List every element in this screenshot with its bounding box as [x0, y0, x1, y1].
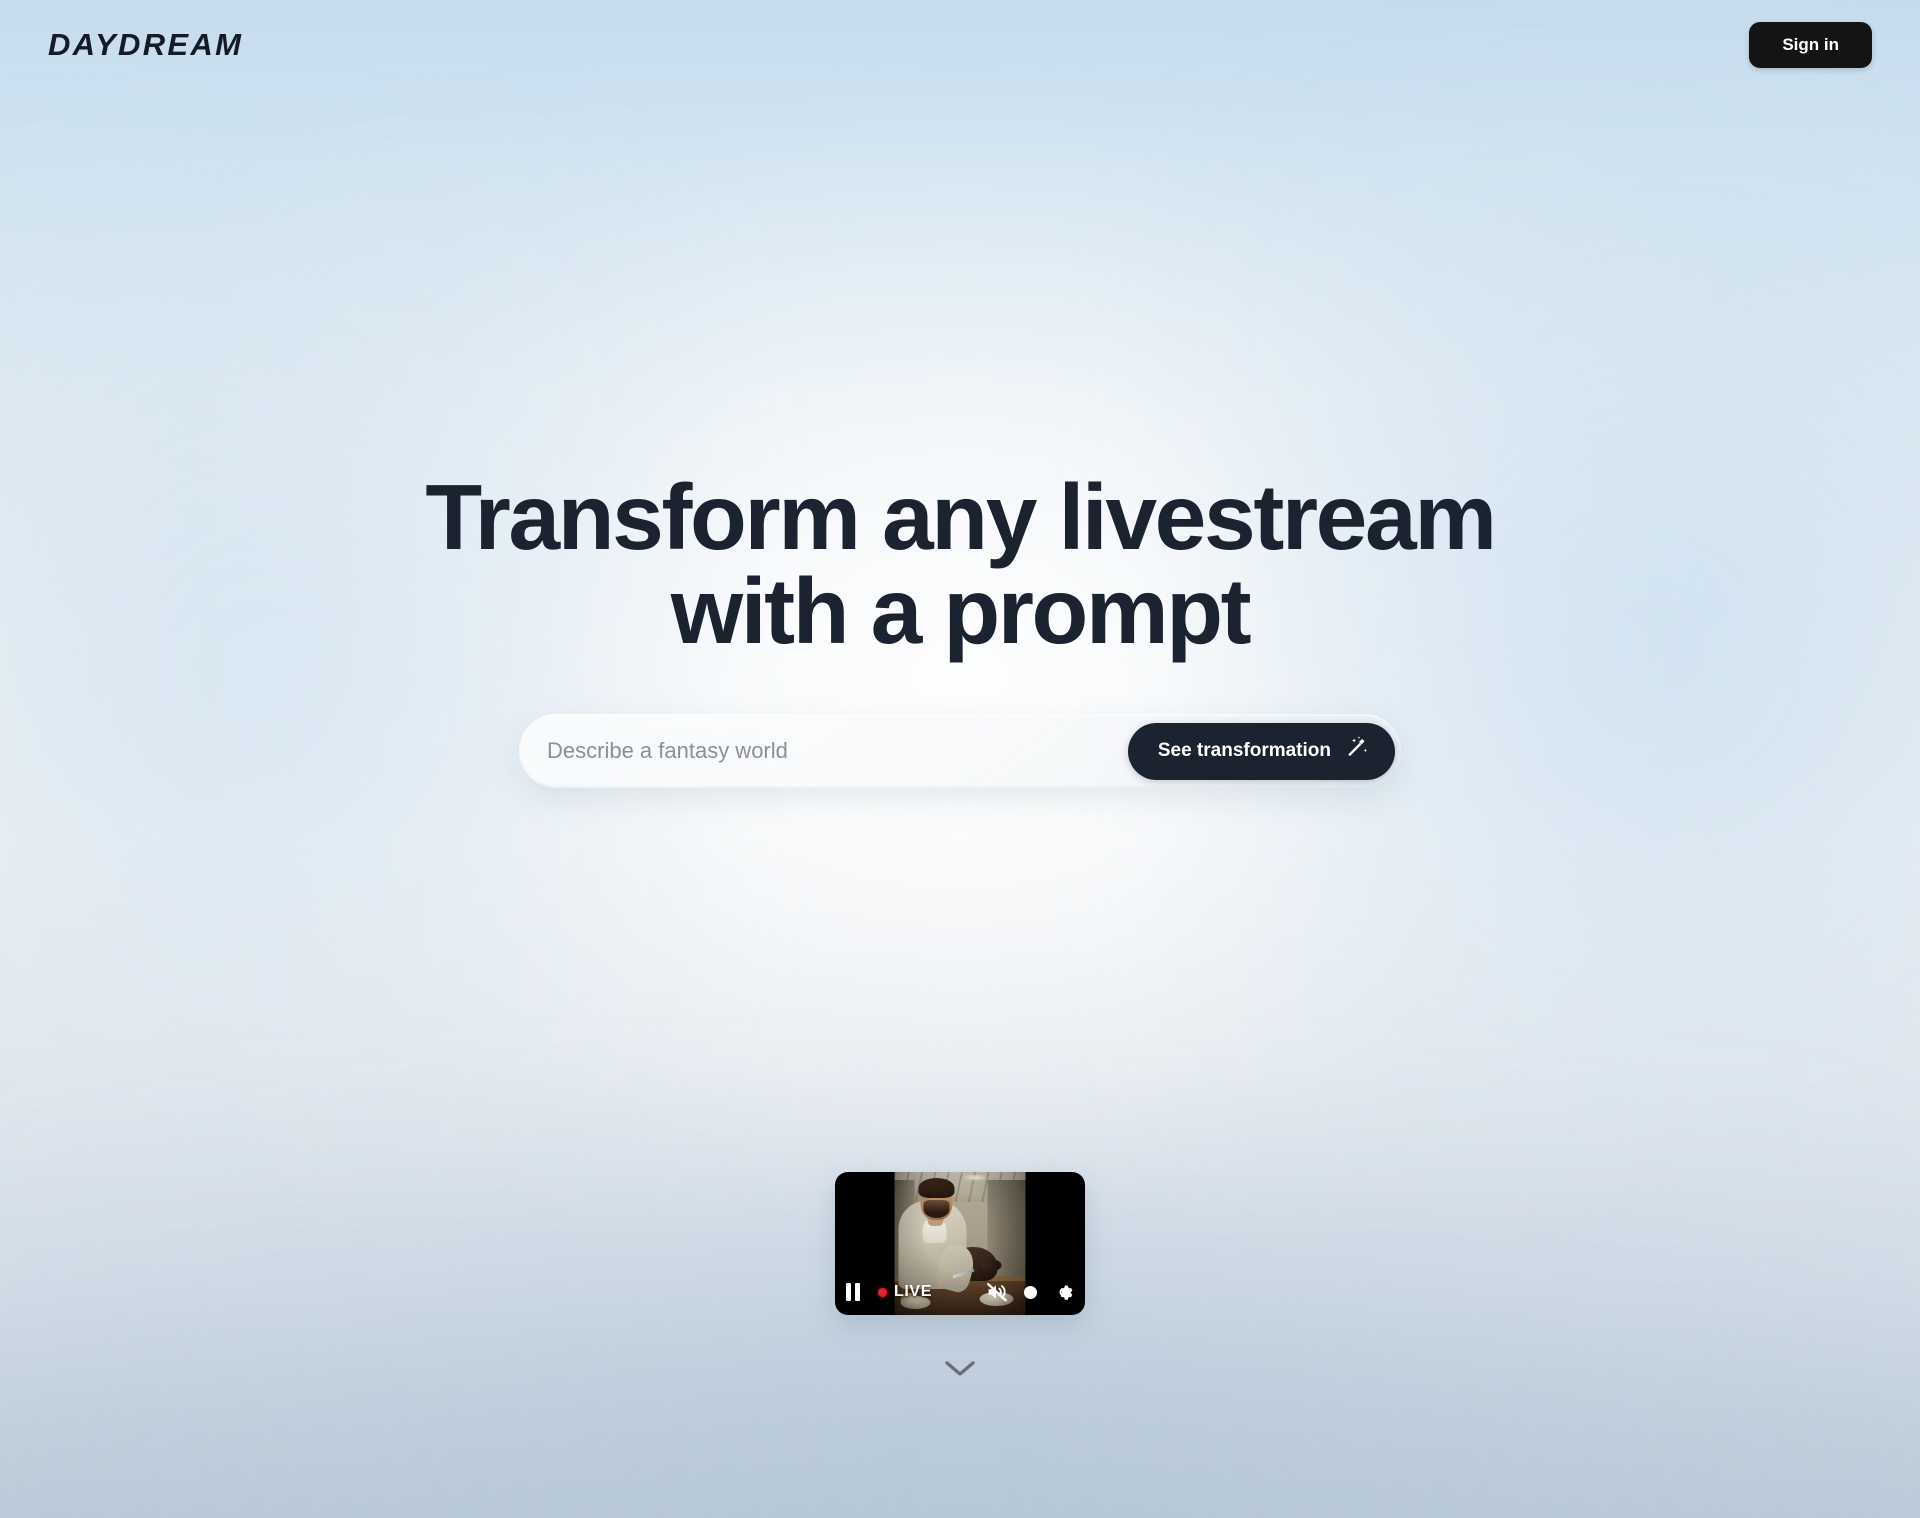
see-transformation-button[interactable]: See transformation: [1128, 723, 1395, 780]
hero-section: Transform any livestream with a prompt: [0, 470, 1920, 658]
record-dot: [1024, 1286, 1037, 1299]
live-video-player[interactable]: LIVE: [835, 1172, 1085, 1315]
hero-title-line-1: Transform any livestream: [0, 470, 1920, 564]
prompt-input[interactable]: [547, 738, 1128, 764]
page-title: Transform any livestream with a prompt: [0, 470, 1920, 658]
player-controls: LIVE: [835, 1269, 1085, 1315]
gear-icon[interactable]: [1052, 1281, 1074, 1303]
record-circle-icon[interactable]: [1024, 1286, 1037, 1299]
speaker-muted-icon[interactable]: [985, 1280, 1009, 1304]
sign-in-button[interactable]: Sign in: [1749, 22, 1872, 68]
pause-bar-left: [846, 1283, 851, 1301]
prompt-bar-wrapper: See transformation: [519, 714, 1401, 788]
prompt-bar[interactable]: See transformation: [519, 714, 1401, 788]
live-dot-icon: [878, 1288, 887, 1297]
hero-title-line-2: with a prompt: [0, 564, 1920, 658]
live-label: LIVE: [894, 1283, 932, 1301]
see-transformation-label: See transformation: [1158, 740, 1331, 762]
magic-wand-icon: [1345, 735, 1371, 767]
live-indicator: LIVE: [878, 1283, 932, 1301]
pause-bar-right: [855, 1283, 860, 1301]
background-glow-left: [0, 213, 666, 1113]
chevron-down-icon[interactable]: [943, 1358, 977, 1385]
site-header: DAYDREAM Sign in: [0, 0, 1920, 90]
brand-logo[interactable]: DAYDREAM: [48, 27, 243, 63]
pause-icon[interactable]: [846, 1283, 860, 1301]
player-controls-right: [985, 1280, 1074, 1304]
